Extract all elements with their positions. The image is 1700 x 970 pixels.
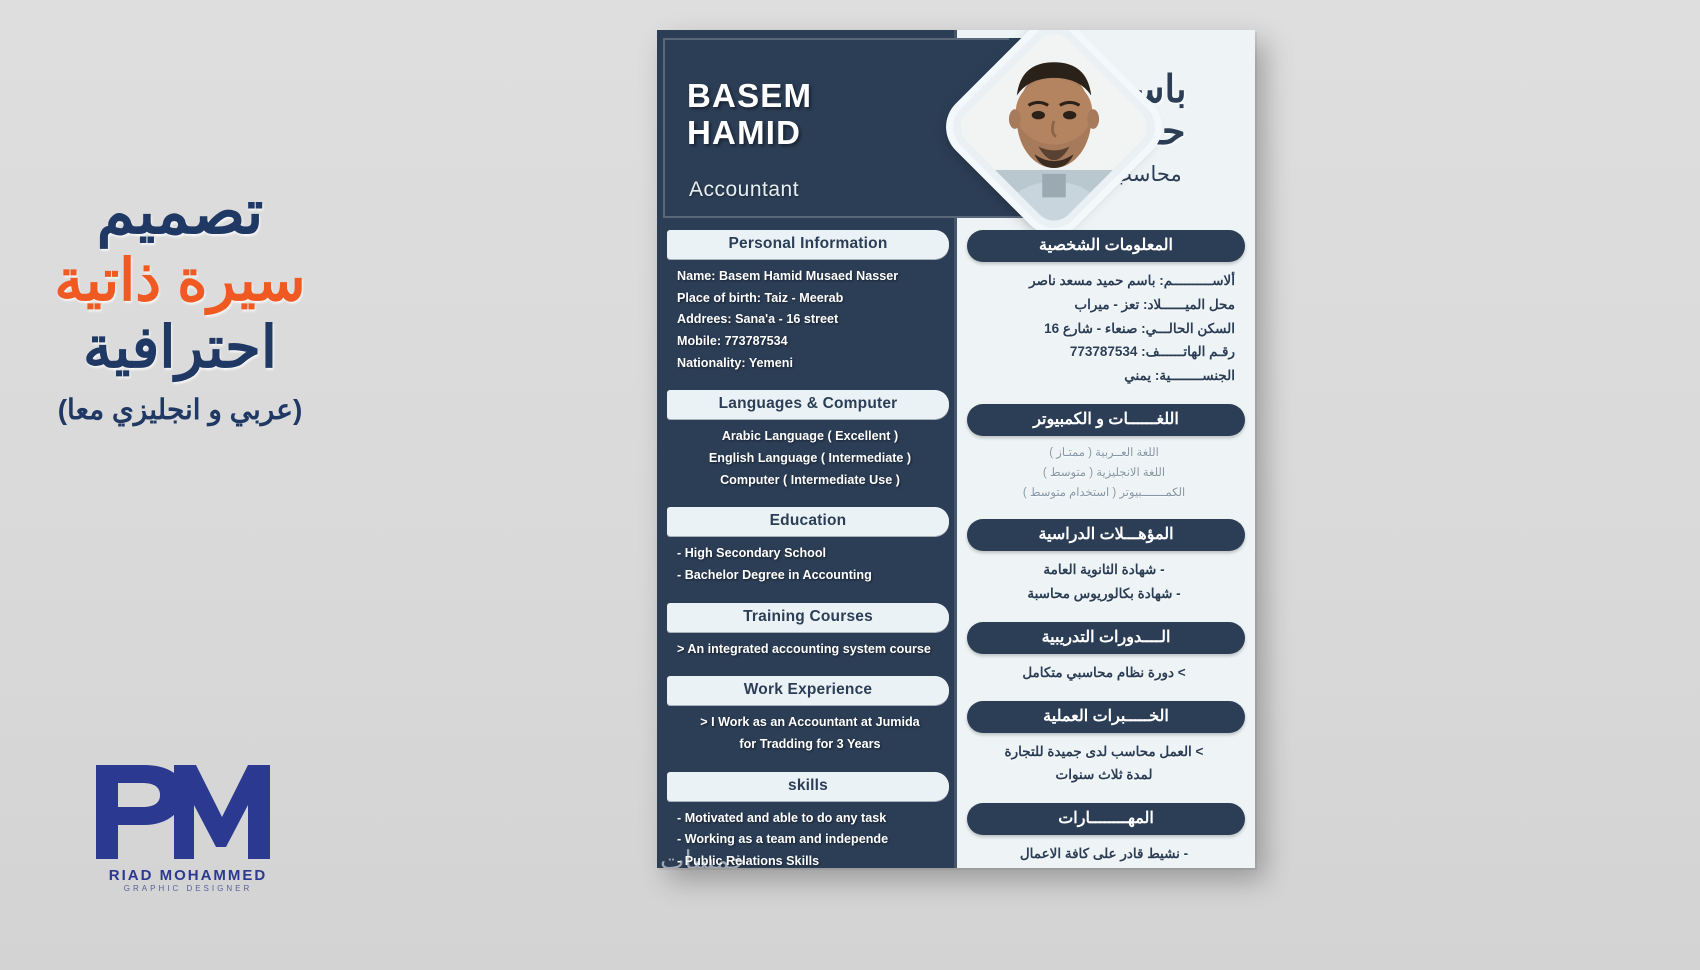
cv-line-en: Place of birth: Taiz - Meerab xyxy=(677,288,943,310)
cv-line-ar: > العمل محاسب لدى جميدة للتجارة xyxy=(973,740,1235,764)
rm-monogram-icon xyxy=(88,755,288,865)
cv-line-ar: اللغة العــربية ( ممتـاز ) xyxy=(973,443,1235,463)
cv-line-ar: > دورة نظام محاسبي متكامل xyxy=(973,661,1235,685)
cv-line-en: Mobile: 773787534 xyxy=(677,331,943,353)
cv-line-ar: السكن الحالـــي: صنعاء - شارع 16 xyxy=(973,317,1235,341)
cv-role-english: Accountant xyxy=(689,178,799,202)
cv-english-column: Personal InformationName: Basem Hamid Mu… xyxy=(667,230,949,868)
cv-section-ar: المؤهـــلات الدراسية- شهادة الثانوية الع… xyxy=(967,519,1245,615)
cv-section-title-en: Work Experience xyxy=(667,676,949,705)
cv-section-body-en: - High Secondary School- Bachelor Degree… xyxy=(667,536,949,595)
cv-line-ar: - العمل بروح الفريق الواحد xyxy=(973,866,1235,868)
cv-section-en: Languages & ComputerArabic Language ( Ex… xyxy=(667,390,949,500)
designer-logo: RIAD MOHAMMED GRAPHIC DESIGNER xyxy=(88,755,288,905)
cv-section-title-ar: الــــدورات التدريبية xyxy=(967,622,1245,654)
cv-line-en: Computer ( Intermediate Use ) xyxy=(677,470,943,492)
promo-text-block: تصميم سيرة ذاتية احترافية (عربي و انجليز… xyxy=(0,180,360,426)
cv-section-ar: اللغــــــات و الكمبيوتراللغة العــربية … xyxy=(967,404,1245,513)
cv-line-en: - Motivated and able to do any task xyxy=(677,808,943,830)
cv-line-ar: الكمـــــــبيوتر ( استخدام متوسط ) xyxy=(973,483,1235,503)
cv-line-ar: محل الميــــــلاد: تعز - ميراب xyxy=(973,293,1235,317)
cv-name-english: BASEM HAMID xyxy=(687,78,812,152)
cv-sheet: BASEM HAMID Accountant باسم حميد محاسب xyxy=(657,30,1255,868)
promo-line-2: سيرة ذاتية xyxy=(0,251,360,312)
cv-section-ar: الــــدورات التدريبية> دورة نظام محاسبي … xyxy=(967,622,1245,694)
cv-line-ar: - شهادة الثانوية العامة xyxy=(973,558,1235,582)
cv-section-en: Personal InformationName: Basem Hamid Mu… xyxy=(667,230,949,383)
cv-section-body-en: > I Work as an Accountant at Jumidafor T… xyxy=(667,705,949,764)
cv-line-en: English Language ( Intermediate ) xyxy=(677,448,943,470)
cv-section-body-en: Name: Basem Hamid Musaed NasserPlace of … xyxy=(667,259,949,383)
cv-line-en: Nationality: Yemeni xyxy=(677,353,943,375)
cv-line-ar: - شهادة بكالوريوس محاسبة xyxy=(973,582,1235,606)
cv-section-title-en: Education xyxy=(667,507,949,536)
promo-line-1: تصميم xyxy=(0,180,360,245)
portrait-photo-icon xyxy=(956,30,1152,225)
cv-section-title-ar: المؤهـــلات الدراسية xyxy=(967,519,1245,551)
cv-line-ar: اللغة الانجليزية ( متوسط ) xyxy=(973,463,1235,483)
cv-line-ar: ألاســــــــــم: باسم حميد مسعد ناصر xyxy=(973,269,1235,293)
cv-line-en: Name: Basem Hamid Musaed Nasser xyxy=(677,266,943,288)
logo-name: RIAD MOHAMMED xyxy=(88,867,288,884)
cv-section-body-ar: ألاســــــــــم: باسم حميد مسعد ناصرمحل … xyxy=(967,262,1245,397)
cv-section-body-en: > An integrated accounting system course xyxy=(667,632,949,670)
cv-line-ar: رقـم الهاتــــــف: 773787534 xyxy=(973,340,1235,364)
cv-name-en-line2: HAMID xyxy=(687,115,812,152)
cv-section-title-en: Personal Information xyxy=(667,230,949,259)
cv-line-ar: الجنســــــــية: يمني xyxy=(973,364,1235,388)
cv-line-en: Addrees: Sana'a - 16 street xyxy=(677,309,943,331)
cv-section-title-ar: المهــــــــارات xyxy=(967,803,1245,835)
cv-line-en: > An integrated accounting system course xyxy=(677,639,943,661)
cv-line-en: for Tradding for 3 Years xyxy=(677,734,943,756)
cv-section-en: Education- High Secondary School- Bachel… xyxy=(667,507,949,595)
cv-section-title-ar: اللغــــــات و الكمبيوتر xyxy=(967,404,1245,436)
cv-section-en: Work Experience> I Work as an Accountant… xyxy=(667,676,949,764)
cv-line-en: Arabic Language ( Excellent ) xyxy=(677,426,943,448)
cv-section-body-ar: - شهادة الثانوية العامة- شهادة بكالوريوس… xyxy=(967,551,1245,615)
cv-line-en: - High Secondary School xyxy=(677,543,943,565)
watermark: خمسات xyxy=(660,845,747,868)
cv-line-en: - Bachelor Degree in Accounting xyxy=(677,565,943,587)
cv-line-ar: - نشيط قادر على كافة الاعمال xyxy=(973,842,1235,866)
cv-section-ar: المعلومات الشخصيةألاســــــــــم: باسم ح… xyxy=(967,230,1245,397)
promo-line-3: احترافية xyxy=(0,318,360,379)
cv-line-en: > I Work as an Accountant at Jumida xyxy=(677,712,943,734)
cv-section-body-en: Arabic Language ( Excellent )English Lan… xyxy=(667,419,949,500)
cv-name-en-line1: BASEM xyxy=(687,78,812,115)
cv-line-ar: لمدة ثلاث سنوات xyxy=(973,763,1235,787)
cv-photo-frame xyxy=(975,48,1133,206)
cv-section-ar: المهــــــــارات- نشيط قادر على كافة الا… xyxy=(967,803,1245,868)
cv-section-ar: الخـــــبرات العملية> العمل محاسب لدى جم… xyxy=(967,701,1245,797)
cv-arabic-column: المعلومات الشخصيةألاســــــــــم: باسم ح… xyxy=(967,230,1245,868)
cv-section-en: Training Courses> An integrated accounti… xyxy=(667,603,949,670)
cv-header: BASEM HAMID Accountant باسم حميد محاسب xyxy=(657,30,1255,226)
cv-section-body-ar: > العمل محاسب لدى جميدة للتجارةلمدة ثلاث… xyxy=(967,733,1245,797)
cv-section-body-ar: - نشيط قادر على كافة الاعمال- العمل بروح… xyxy=(967,835,1245,868)
cv-photo-clip xyxy=(952,30,1156,229)
cv-section-title-ar: المعلومات الشخصية xyxy=(967,230,1245,262)
cv-section-title-en: skills xyxy=(667,772,949,801)
cv-section-title-en: Languages & Computer xyxy=(667,390,949,419)
cv-section-body-ar: > دورة نظام محاسبي متكامل xyxy=(967,654,1245,694)
cv-section-body-ar: اللغة العــربية ( ممتـاز )اللغة الانجليز… xyxy=(967,436,1245,513)
promo-line-4: (عربي و انجليزي معا) xyxy=(0,393,360,426)
cv-section-title-en: Training Courses xyxy=(667,603,949,632)
logo-subtitle: GRAPHIC DESIGNER xyxy=(88,884,288,893)
cv-section-title-ar: الخـــــبرات العملية xyxy=(967,701,1245,733)
